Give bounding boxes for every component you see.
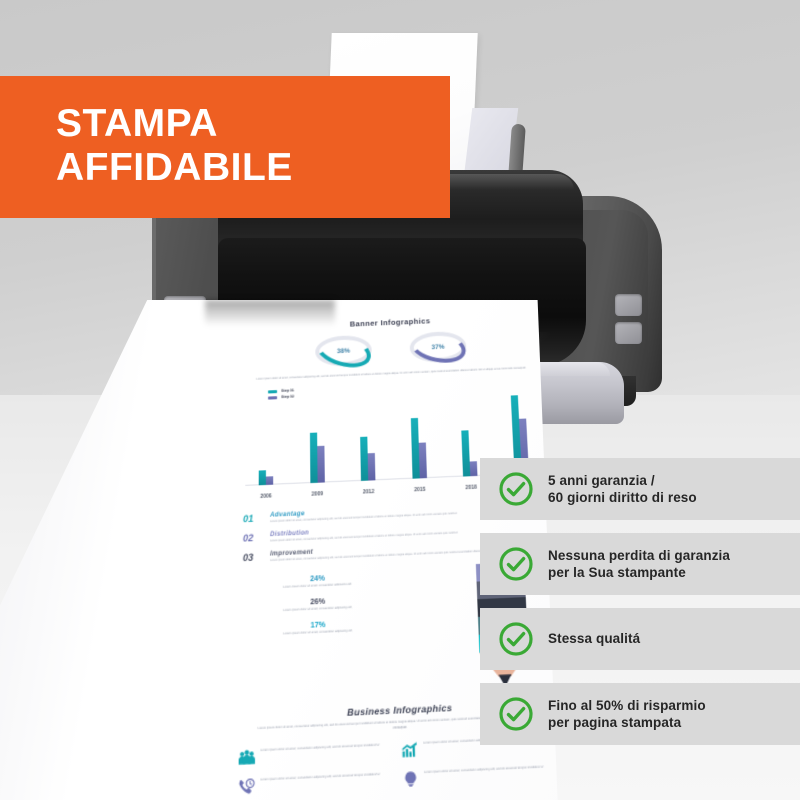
list-item: Lorem ipsum dolor sit amet, consectetur … [237, 772, 401, 796]
cancel-button[interactable] [615, 322, 642, 344]
bar [418, 443, 426, 479]
bar-chart-growth-icon [400, 742, 418, 759]
feature-line-2: 60 giorni diritto di reso [548, 490, 697, 505]
feature-card-savings[interactable]: Fino al 50% di risparmio per pagina stam… [480, 683, 800, 745]
list-item: Lorem ipsum dolor sit amet, consectetur … [238, 742, 401, 766]
x-axis-label: 2015 [399, 486, 441, 494]
business-cell-text: Lorem ipsum dolor sit amet, consectetur … [424, 765, 543, 775]
feature-card-text: Stessa qualitá [548, 630, 640, 647]
check-circle-icon [498, 546, 534, 582]
step-number: 02 [243, 532, 264, 544]
bar-group [296, 432, 338, 484]
bar-group [347, 436, 389, 481]
feature-card-list: 5 anni garanzia / 60 giorni diritto di r… [480, 458, 800, 758]
legend-label: Step 01 [281, 388, 294, 393]
feature-card-warranty[interactable]: 5 anni garanzia / 60 giorni diritto di r… [480, 458, 800, 520]
bar [462, 430, 471, 476]
check-circle-icon [498, 471, 534, 507]
bar [470, 461, 478, 476]
funnel-item: 26% Lorem ipsum dolor sit amet, consecte… [238, 595, 397, 615]
feed-button[interactable] [615, 294, 642, 316]
x-axis-label: 2006 [245, 493, 286, 501]
bar [317, 446, 325, 483]
step-number: 03 [243, 551, 264, 563]
legend-swatch-icon [268, 390, 277, 393]
x-axis-label: 2009 [297, 490, 338, 498]
page-title: STAMPA AFFIDABILE [0, 76, 450, 189]
donut-value-1: 38% [315, 335, 372, 367]
bar [266, 476, 273, 485]
feature-line-1: Fino al 50% di risparmio [548, 698, 706, 713]
business-cell-text: Lorem ipsum dolor sit amet, consectetur … [260, 743, 379, 753]
feature-line-2: per la Sua stampante [548, 565, 686, 580]
feature-card-text: Fino al 50% di risparmio per pagina stam… [548, 697, 706, 732]
feature-card-same-quality[interactable]: Stessa qualitá [480, 608, 800, 670]
people-group-icon [238, 749, 255, 766]
feature-card-text: Nessuna perdita di garanzia per la Sua s… [548, 547, 730, 582]
check-circle-icon [498, 621, 534, 657]
funnel-item: 17% Lorem ipsum dolor sit amet, consecte… [238, 619, 398, 639]
bar-group [245, 469, 286, 486]
feature-card-no-warranty-loss[interactable]: Nessuna perdita di garanzia per la Sua s… [480, 533, 800, 595]
donut-chart-group: 38% 37% [240, 328, 543, 371]
legend-swatch-icon [268, 396, 277, 399]
donut-value-2: 37% [409, 331, 466, 363]
legend-label: Step 02 [281, 394, 294, 399]
feature-line-1: 5 anni garanzia / [548, 473, 655, 488]
funnel-labels: 24% Lorem ipsum dolor sit amet, consecte… [238, 572, 398, 649]
headline-banner: STAMPA AFFIDABILE [0, 76, 450, 218]
headline-line-2: AFFIDABILE [56, 146, 293, 189]
donut-chart-1: 38% [315, 335, 372, 367]
feature-card-text: 5 anni garanzia / 60 giorni diritto di r… [548, 472, 697, 507]
bar [259, 470, 266, 485]
funnel-item: 24% Lorem ipsum dolor sit amet, consecte… [238, 572, 396, 592]
donut-chart-2: 37% [409, 331, 466, 363]
step-number: 01 [243, 513, 264, 525]
headline-line-1: STAMPA [56, 102, 218, 145]
bar-group [397, 418, 440, 480]
x-axis-label: 2012 [348, 488, 389, 496]
check-circle-icon [498, 696, 534, 732]
list-item: Lorem ipsum dolor sit amet, consectetur … [401, 764, 565, 788]
bar [368, 453, 376, 480]
poster-canvas: Banner Infographics 38% 37% Lorem ipsum … [0, 0, 800, 800]
feature-line-1: Stessa qualitá [548, 631, 640, 646]
feature-line-2: per pagina stampata [548, 715, 681, 730]
phone-clock-icon [237, 778, 255, 795]
feature-line-1: Nessuna perdita di garanzia [548, 548, 730, 563]
business-cell-text: Lorem ipsum dolor sit amet, consectetur … [260, 773, 379, 783]
lightbulb-idea-icon [401, 771, 419, 788]
